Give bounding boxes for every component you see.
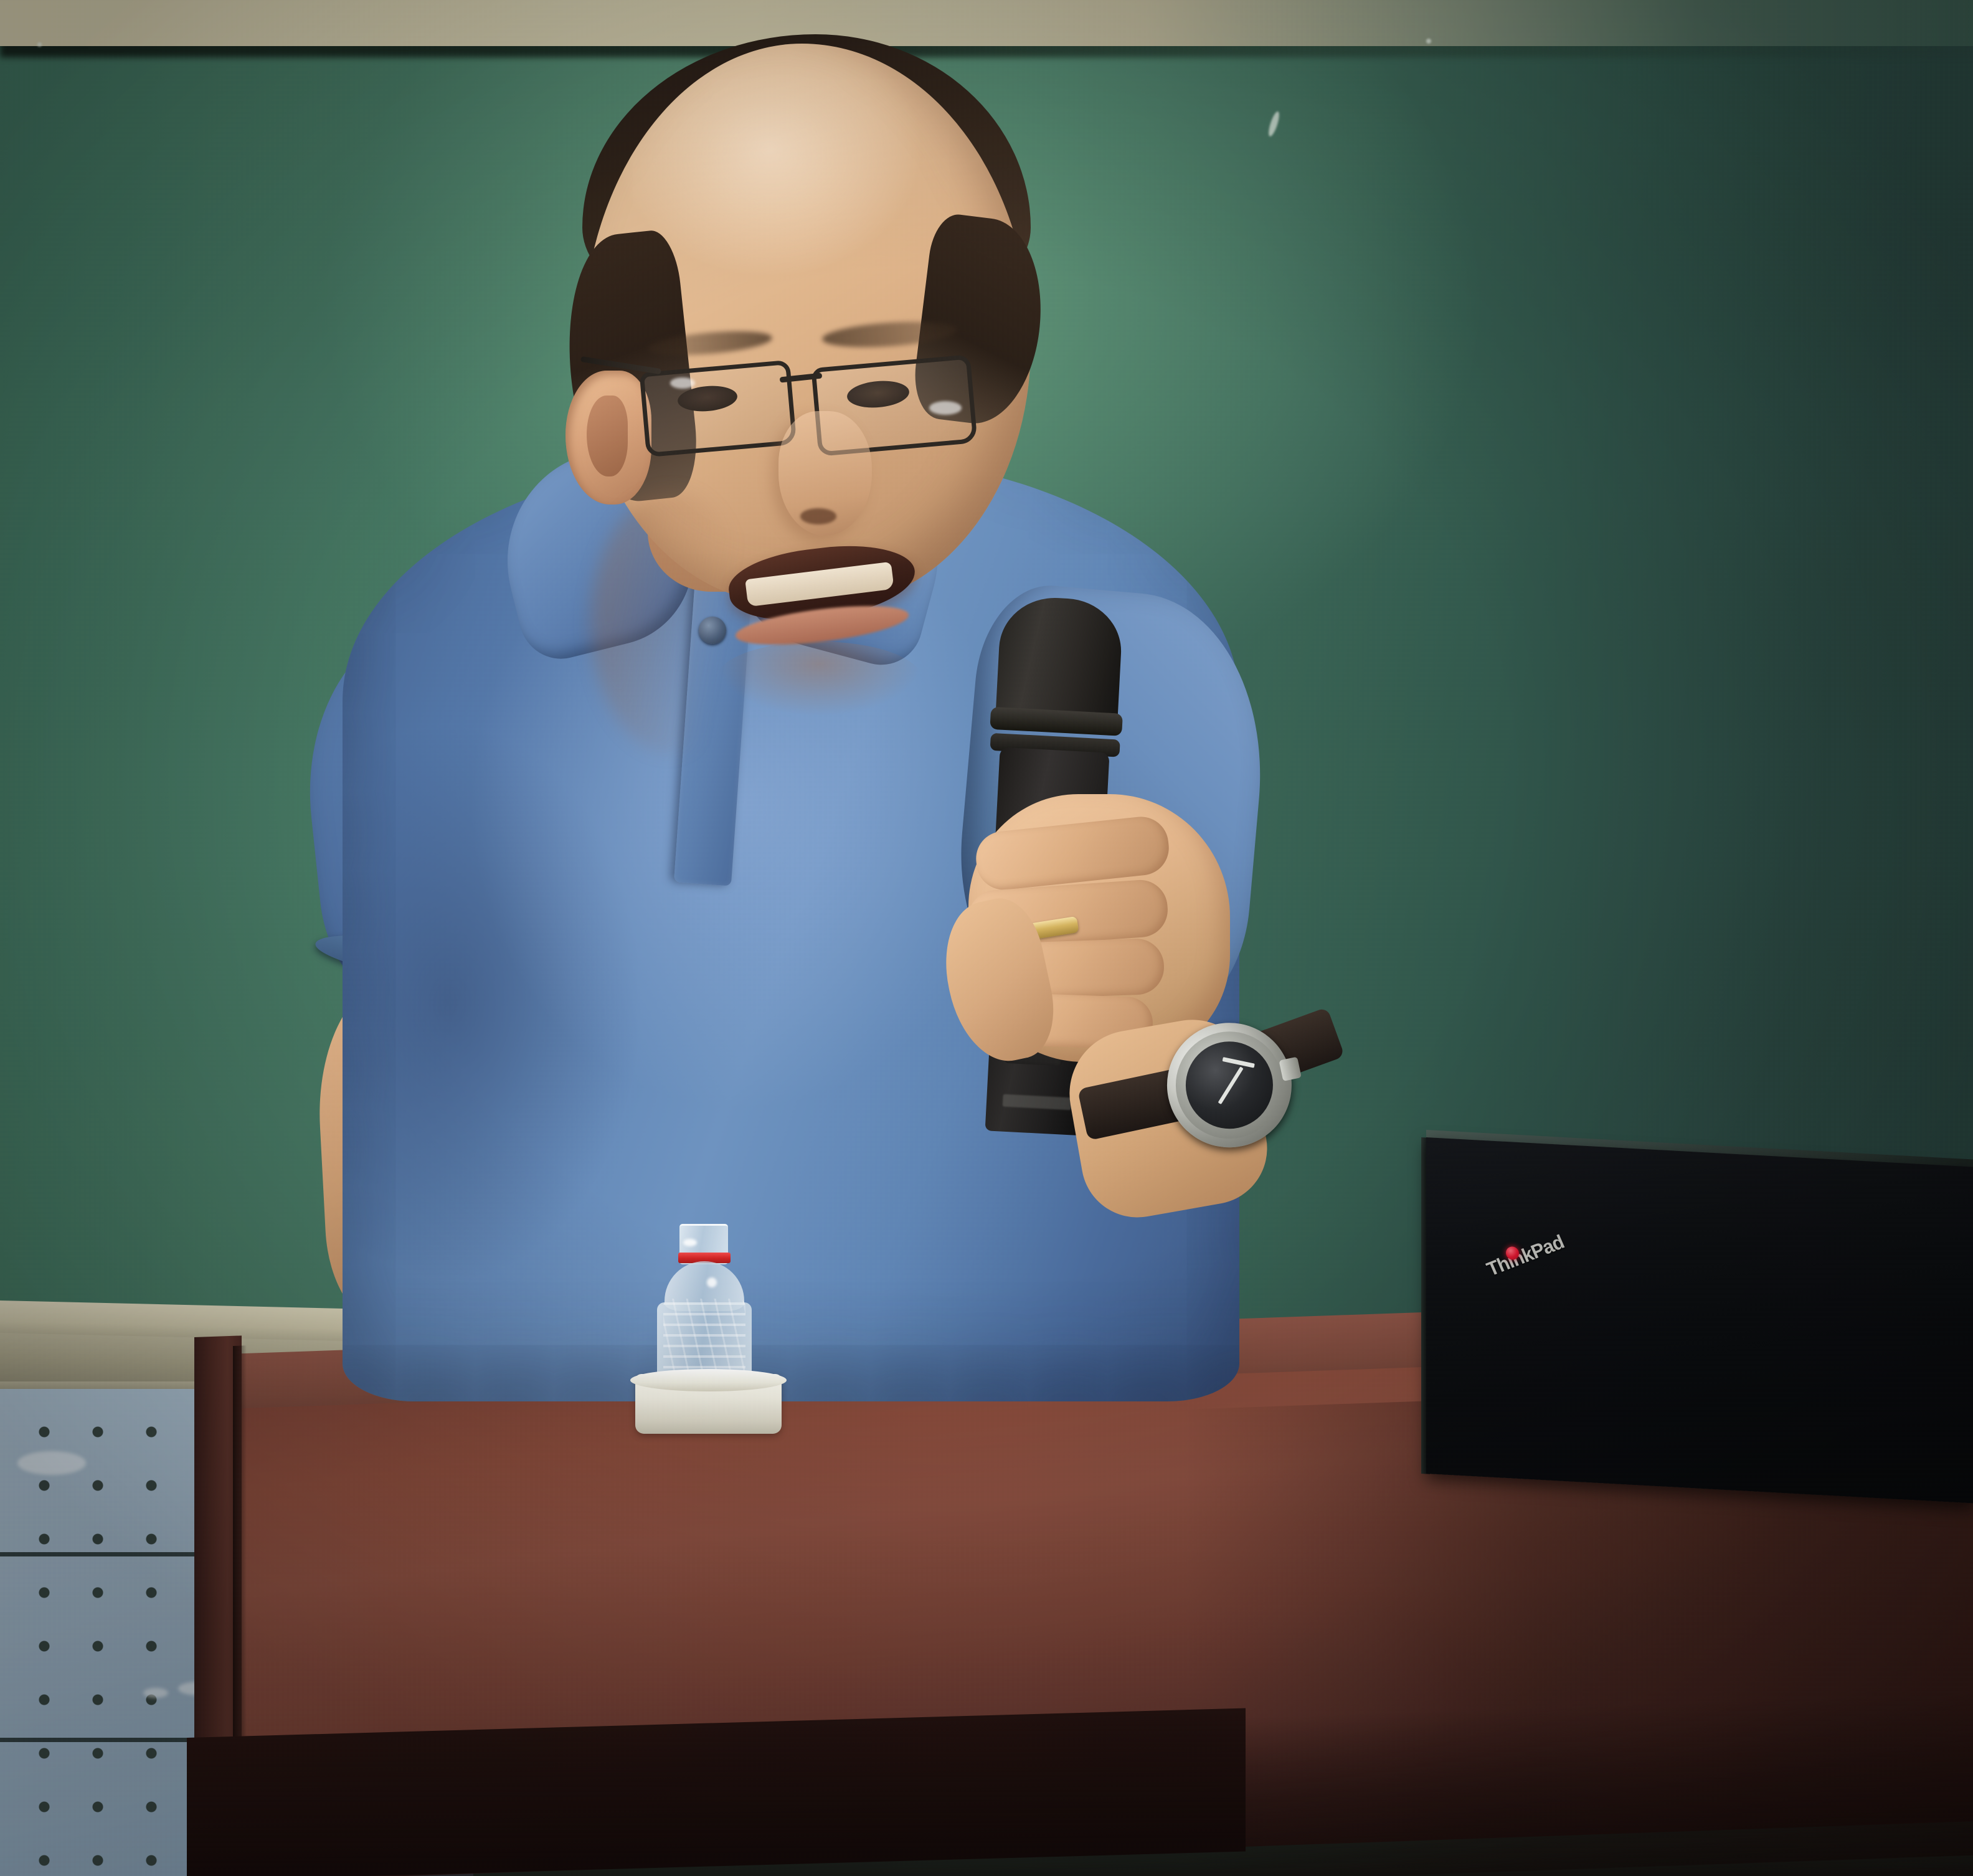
chin-shadow — [716, 642, 922, 716]
photo-scene: ThinkPad — [0, 0, 1973, 1876]
thinkpad-logo-text: ThinkPad — [1483, 1231, 1567, 1281]
eyeglasses-lens-left — [640, 360, 797, 458]
eyeglasses-glint — [670, 377, 695, 389]
lectern-base-shadow — [187, 1708, 1246, 1876]
paper-cup-rim — [630, 1369, 787, 1391]
bottle-highlight — [707, 1277, 717, 1287]
thinkpad-logo: ThinkPad — [1483, 1233, 1561, 1281]
thinkpad-logo-red-dot-icon — [1506, 1246, 1519, 1260]
ear-left-inner — [587, 396, 628, 476]
chalkboard-top-frame — [0, 0, 1973, 46]
chalk-speck — [1426, 39, 1431, 44]
nostril — [800, 508, 836, 524]
bottle-highlight — [683, 1239, 697, 1246]
water-bottle — [645, 1224, 763, 1392]
jaw-shadow — [592, 492, 754, 754]
chalk-speck — [37, 42, 42, 47]
laptop: ThinkPad — [1426, 1137, 1973, 1486]
laptop-lid: ThinkPad — [1426, 1137, 1973, 1504]
eyeglasses-glint — [929, 401, 962, 415]
